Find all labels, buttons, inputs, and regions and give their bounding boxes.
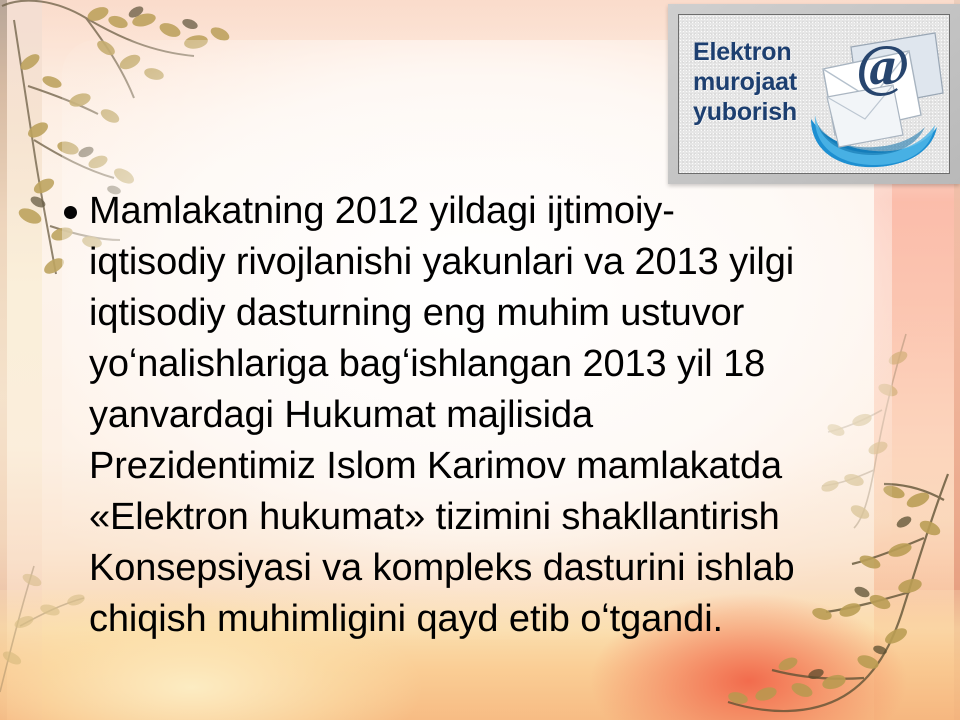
envelope-at-swoosh-icon: @ bbox=[805, 23, 945, 173]
logo-wordmark: Elektron murojaat yuborish bbox=[693, 37, 797, 127]
at-symbol-icon: @ bbox=[856, 33, 910, 98]
bullet-list-item: Mamlakatning 2012 yildagi ijtimoiy- iqti… bbox=[64, 186, 924, 645]
body-text: Mamlakatning 2012 yildagi ijtimoiy- iqti… bbox=[89, 186, 795, 645]
svg-text:@: @ bbox=[856, 33, 910, 98]
logo-badge-inner: Elektron murojaat yuborish bbox=[678, 14, 950, 174]
bullet-point-icon bbox=[64, 206, 77, 219]
slide-canvas: Mamlakatning 2012 yildagi ijtimoiy- iqti… bbox=[0, 0, 960, 720]
elektron-murojaat-logo-badge[interactable]: Elektron murojaat yuborish bbox=[668, 4, 960, 184]
